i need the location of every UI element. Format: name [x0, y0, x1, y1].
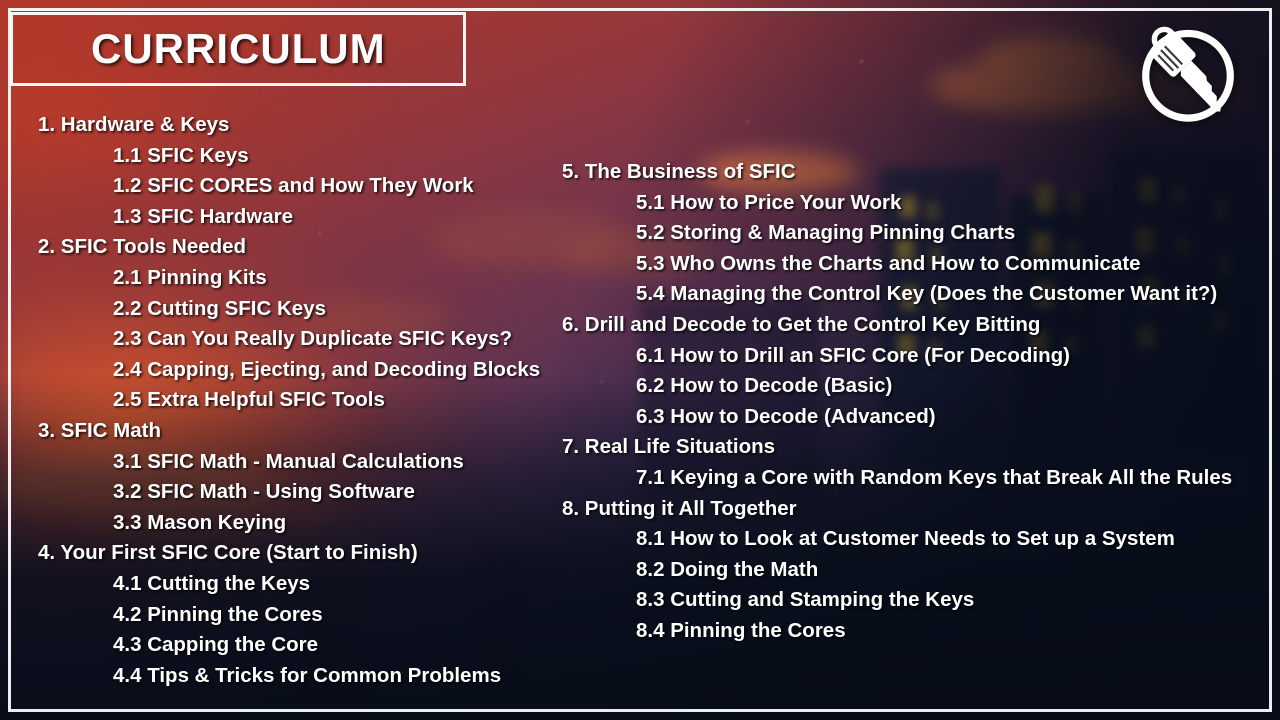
- key-in-circle-logo: [1134, 20, 1242, 128]
- outline-subsection-item: 2.3 Can You Really Duplicate SFIC Keys?: [0, 324, 540, 355]
- page-title: CURRICULUM: [91, 28, 386, 70]
- outline-right-column: 5. The Business of SFIC5.1 How to Price …: [524, 157, 1232, 647]
- outline-subsection-item: 1.3 SFIC Hardware: [0, 202, 540, 233]
- presentation-slide: CURRICULUM 1. Hardware & Keys1.1 SFIC Ke…: [0, 0, 1280, 720]
- outline-subsection-item: 3.3 Mason Keying: [0, 508, 540, 539]
- outline-subsection-item: 5.3 Who Owns the Charts and How to Commu…: [524, 249, 1232, 280]
- title-box: CURRICULUM: [10, 12, 466, 86]
- outline-subsection-item: 5.2 Storing & Managing Pinning Charts: [524, 218, 1232, 249]
- outline-subsection-item: 8.1 How to Look at Customer Needs to Set…: [524, 524, 1232, 555]
- outline-section-item: 8. Putting it All Together: [524, 494, 1232, 525]
- outline-subsection-item: 6.3 How to Decode (Advanced): [524, 402, 1232, 433]
- outline-subsection-item: 4.3 Capping the Core: [0, 630, 540, 661]
- outline-subsection-item: 6.1 How to Drill an SFIC Core (For Decod…: [524, 341, 1232, 372]
- outline-subsection-item: 2.5 Extra Helpful SFIC Tools: [0, 385, 540, 416]
- outline-subsection-item: 2.2 Cutting SFIC Keys: [0, 294, 540, 325]
- outline-subsection-item: 4.2 Pinning the Cores: [0, 600, 540, 631]
- outline-section-item: 2. SFIC Tools Needed: [0, 232, 540, 263]
- outline-section-item: 5. The Business of SFIC: [524, 157, 1232, 188]
- outline-subsection-item: 1.2 SFIC CORES and How They Work: [0, 171, 540, 202]
- outline-subsection-item: 3.1 SFIC Math - Manual Calculations: [0, 447, 540, 478]
- outline-subsection-item: 1.1 SFIC Keys: [0, 141, 540, 172]
- outline-subsection-item: 2.1 Pinning Kits: [0, 263, 540, 294]
- outline-left-column: 1. Hardware & Keys1.1 SFIC Keys1.2 SFIC …: [0, 110, 540, 691]
- outline-section-item: 4. Your First SFIC Core (Start to Finish…: [0, 538, 540, 569]
- outline-subsection-item: 7.1 Keying a Core with Random Keys that …: [524, 463, 1232, 494]
- outline-subsection-item: 5.1 How to Price Your Work: [524, 188, 1232, 219]
- outline-subsection-item: 6.2 How to Decode (Basic): [524, 371, 1232, 402]
- outline-subsection-item: 8.3 Cutting and Stamping the Keys: [524, 585, 1232, 616]
- outline-section-item: 7. Real Life Situations: [524, 432, 1232, 463]
- outline-section-item: 1. Hardware & Keys: [0, 110, 540, 141]
- outline-subsection-item: 4.1 Cutting the Keys: [0, 569, 540, 600]
- outline-subsection-item: 3.2 SFIC Math - Using Software: [0, 477, 540, 508]
- outline-subsection-item: 5.4 Managing the Control Key (Does the C…: [524, 279, 1232, 310]
- outline-subsection-item: 4.4 Tips & Tricks for Common Problems: [0, 661, 540, 692]
- outline-subsection-item: 8.2 Doing the Math: [524, 555, 1232, 586]
- outline-section-item: 3. SFIC Math: [0, 416, 540, 447]
- outline-subsection-item: 2.4 Capping, Ejecting, and Decoding Bloc…: [0, 355, 540, 386]
- outline-subsection-item: 8.4 Pinning the Cores: [524, 616, 1232, 647]
- outline-section-item: 6. Drill and Decode to Get the Control K…: [524, 310, 1232, 341]
